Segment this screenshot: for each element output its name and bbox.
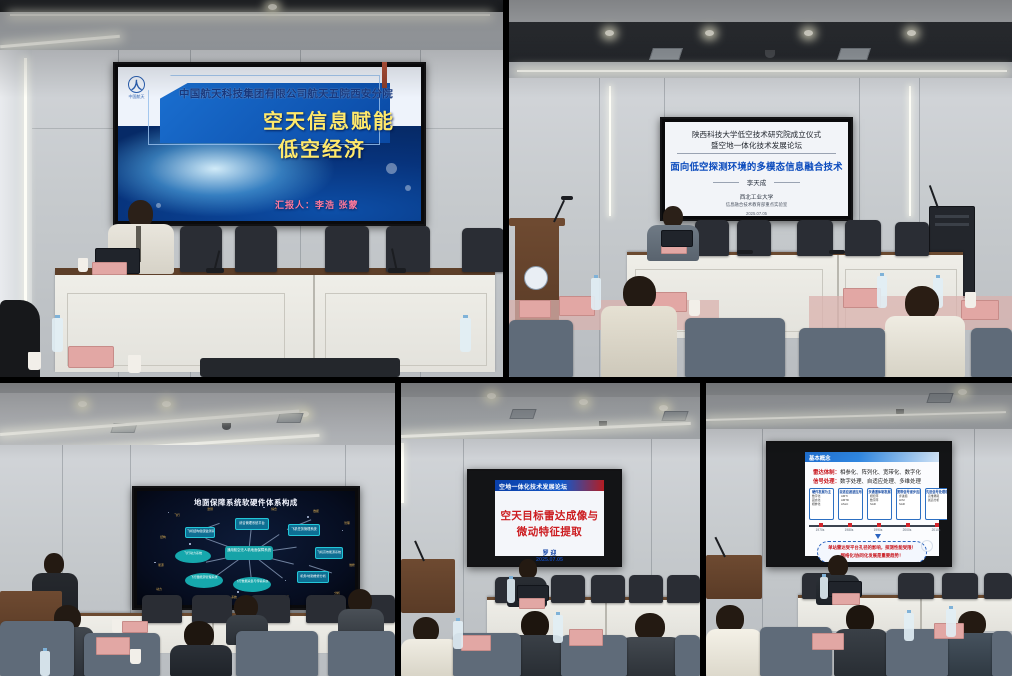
ceiling-downlight: [162, 401, 171, 407]
red-line-1-label: 雷达体制：: [813, 470, 840, 476]
slide-org-line: 中国航天科技集团有限公司航天五院西安分院: [179, 86, 393, 101]
name-card: [122, 621, 148, 633]
name-card: [559, 296, 595, 316]
slide-basic-concepts: 基本概念 雷达体制：相参化、阵列化、宽带化、数字化 信号处理：数字处理、自适应处…: [805, 452, 939, 556]
panel-bottom-right[interactable]: 基本概念 雷达体制：相参化、阵列化、宽带化、数字化 信号处理：数字处理、自适应处…: [706, 383, 1012, 676]
timeline-year: 2010s: [925, 528, 947, 532]
ceiling-downlight: [804, 30, 813, 36]
paper-cup: [28, 352, 41, 370]
slide-title-line-1: 空天目标雷达成像与: [495, 508, 604, 523]
audience-member: [621, 613, 681, 676]
water-bottle: [553, 615, 563, 643]
slide-red-line-2: 信号处理：数字处理、自适应处理、多维处理: [813, 477, 921, 485]
slide-header-line-2: 暨空地一体化技术发展论坛: [665, 140, 848, 151]
water-bottle: [904, 613, 914, 641]
paper-cup: [78, 258, 88, 272]
name-card: [843, 288, 881, 308]
stage-box: 宽带信号逐步应用 步进频 LFM SAR: [896, 488, 921, 520]
audience-member: [601, 276, 677, 377]
mindmap-node: 综合管理系统平台: [235, 518, 269, 530]
paper-cup: [112, 619, 122, 633]
chair: [551, 575, 585, 603]
slide-title-line-1: 空天信息赋能: [263, 105, 395, 134]
stage-box: 硬件发展为主 数字化 固态化 相参化: [809, 488, 834, 520]
mindmap-title: 地面保障系统软硬件体系构成: [137, 497, 355, 508]
slide-airspace-info: 人 中国航天 中国航天科技集团有限公司航天五院西安分院 空天信息赋能 低空经济 …: [118, 67, 421, 221]
audience-member: [170, 621, 232, 676]
chair: [984, 573, 1012, 599]
ceiling-downlight: [78, 401, 87, 407]
slide-header-line-1: 陕西科技大学低空技术研究院成立仪式: [665, 129, 848, 140]
name-card: [812, 633, 844, 650]
university-emblem-icon: [524, 266, 548, 290]
ceiling-downlight: [958, 389, 967, 395]
stage-item: SAR: [897, 502, 920, 506]
panel-bottom-middle[interactable]: 空地一体化技术发展论坛 空天目标雷达成像与 微动特征提取 罗 迎 2025.07…: [401, 383, 700, 676]
audience-member: [885, 286, 965, 377]
speaker-laptop: [661, 230, 693, 247]
ceiling-downlight: [605, 30, 614, 36]
conclusion-line-1: 单站雷达受平台孔径的影响，探测性能受限！: [818, 542, 926, 551]
timeline-year: 1990s: [867, 528, 889, 532]
timeline-year: 1980s: [838, 528, 860, 532]
slide-speaker: 罗 迎: [495, 548, 604, 557]
collage-gap-vertical: [395, 383, 401, 676]
panel-top-left[interactable]: 人 中国航天 中国航天科技集团有限公司航天五院西安分院 空天信息赋能 低空经济 …: [0, 0, 503, 377]
slide-speaker: 李天成: [665, 177, 848, 187]
red-line-1-value: 相参化、阵列化、宽带化、数字化: [840, 470, 921, 476]
slide-ribbon-text: 空地一体化技术发展论坛: [499, 482, 567, 491]
chair: [462, 228, 503, 272]
slide-byline: 汇报人：李浩 张蒙: [275, 198, 359, 211]
casc-logo-icon: 人: [128, 76, 145, 93]
name-card: [92, 262, 127, 275]
panel-top-right[interactable]: 陕西科技大学低空技术研究院成立仪式 暨空地一体化技术发展论坛 面向低空探测环境的…: [509, 0, 1012, 377]
mindmap-node: 飞机高效能源系统: [315, 547, 343, 559]
panel-bottom-left[interactable]: 地面保障系统软硬件体系构成: [0, 383, 395, 676]
audience-member: [401, 617, 459, 676]
audience-chair: [799, 328, 885, 377]
water-bottle: [453, 621, 463, 649]
university-watermark-icon: [921, 540, 933, 552]
chair: [235, 226, 277, 272]
name-card: [519, 300, 551, 318]
audience-chair: [509, 320, 573, 377]
stage-item: SAR: [868, 502, 891, 506]
chair: [895, 222, 929, 256]
audience-chair: [236, 631, 318, 676]
stage-box: 先进信号处理理论 高维稀疏 属适分析: [925, 488, 947, 520]
name-card: [68, 346, 114, 368]
red-line-2-value: 数字处理、自适应处理、多维处理: [840, 479, 921, 485]
projection-screen: 基本概念 雷达体制：相参化、阵列化、宽带化、数字化 信号处理：数字处理、自适应处…: [766, 441, 952, 567]
chair: [797, 220, 833, 256]
casc-logo-label: 中国航天: [122, 94, 151, 100]
stage-box: 多通道体制发展 相控阵 数字阵 SAR: [867, 488, 892, 520]
ceiling-downlight: [907, 30, 916, 36]
slide-header: 基本概念: [809, 454, 831, 462]
audience-chair: [971, 328, 1012, 377]
paper-cup: [965, 292, 976, 308]
name-card: [96, 637, 130, 655]
led-wall-screen: 地面保障系统软硬件体系构成: [132, 486, 360, 610]
mindmap-node: 飞行器能源管理系统: [185, 573, 223, 588]
collage-gap-vertical: [503, 0, 509, 377]
slide-main-title: 面向低空探测环境的多模态信息融合技术: [665, 159, 848, 173]
slide-ground-support-mindmap: 地面保障系统软硬件体系构成: [137, 491, 355, 605]
chair: [629, 575, 663, 603]
projection-screen: 空地一体化技术发展论坛 空天目标雷达成像与 微动特征提取 罗 迎 2025.07…: [467, 469, 622, 567]
mindmap-node: 飞机任务管理系统: [288, 524, 320, 536]
collage-gap-vertical: [700, 383, 706, 676]
audience-chair: [328, 631, 395, 676]
slide-radar-imaging: 空地一体化技术发展论坛 空天目标雷达成像与 微动特征提取 罗 迎 2025.07…: [495, 480, 604, 556]
paper-cup: [128, 355, 141, 373]
slide-red-line-1: 雷达体制：相参化、阵列化、宽带化、数字化: [813, 468, 921, 476]
chair: [845, 220, 881, 256]
stage-item: 属适分析: [926, 498, 947, 502]
collage-gap-horizontal: [0, 377, 1012, 383]
ceiling-downlight: [268, 4, 277, 10]
stage-item: 相参化: [810, 502, 833, 506]
ceiling-downlight: [579, 399, 588, 405]
chair: [142, 595, 182, 623]
audience-member: [706, 605, 762, 676]
audience-chair: [0, 621, 74, 676]
photo-collage: 人 中国航天 中国航天科技集团有限公司航天五院西安分院 空天信息赋能 低空经济 …: [0, 0, 1012, 676]
mindmap-node: 飞行动力系统: [175, 549, 211, 563]
water-bottle: [820, 577, 828, 599]
ceiling-downlight: [487, 393, 496, 399]
timeline-year: 1970s: [809, 528, 831, 532]
slide-title-line-2: 低空经济: [278, 133, 366, 162]
ceiling-downlight: [705, 30, 714, 36]
slide-multimodal-fusion: 陕西科技大学低空技术研究院成立仪式 暨空地一体化技术发展论坛 面向低空探测环境的…: [665, 122, 848, 216]
red-line-2-label: 信号处理：: [813, 479, 840, 485]
name-card: [519, 598, 545, 609]
mindmap-node: 机务/地勤维修分析: [297, 571, 329, 583]
water-bottle: [946, 609, 956, 637]
stage-item: ASLC: [839, 502, 862, 506]
audience-chair: [685, 318, 785, 377]
name-card: [461, 635, 491, 651]
stage-box: 自适应滤波应用 AMTI AMTD ASLC: [838, 488, 863, 520]
chair: [942, 573, 978, 599]
mindmap-node: 飞机结构健康监测系统: [185, 527, 215, 538]
water-bottle: [52, 318, 63, 352]
paper-cup: [689, 300, 700, 316]
name-card: [569, 629, 603, 646]
chair: [325, 226, 369, 272]
mindmap-node: 飞行数据采集与传输系统: [233, 577, 271, 592]
slide-affiliation: 西北工业大学: [665, 193, 848, 201]
water-bottle: [460, 318, 471, 352]
chair: [898, 573, 934, 599]
slide-title-line-2: 微动特征提取: [495, 524, 604, 539]
mindmap-center-node: 通用航空无人机地面保障系统: [225, 546, 273, 560]
timeline-year: 2000s: [896, 528, 918, 532]
chair: [667, 575, 700, 603]
lectern: [706, 555, 762, 599]
lectern: [401, 559, 455, 613]
audience-chair: [675, 635, 700, 676]
conference-dais: [55, 272, 495, 372]
water-bottle: [507, 579, 515, 603]
ceiling-light-strip: [10, 14, 490, 16]
paper-cup: [130, 649, 141, 664]
water-bottle: [40, 651, 50, 676]
name-card: [832, 593, 860, 605]
water-bottle: [591, 278, 601, 310]
chair: [591, 575, 625, 603]
audience-chair: [992, 631, 1012, 676]
